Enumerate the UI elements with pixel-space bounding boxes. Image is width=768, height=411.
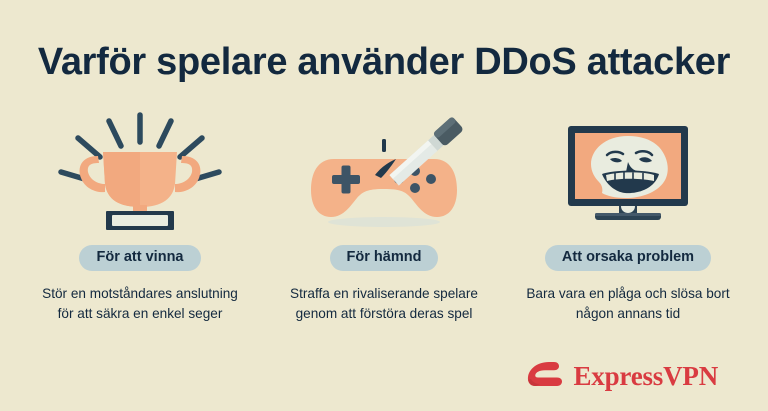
reason-column-revenge: För hämnd Straffa en rivaliserande spela… (268, 112, 500, 323)
stabbed-gamepad-icon (289, 112, 479, 230)
trophy-icon-area (24, 112, 256, 230)
trophy-icon (45, 112, 235, 230)
badge-revenge: För hämnd (330, 245, 439, 271)
caption-trouble: Bara vara en plåga och slösa bort någon … (523, 284, 733, 323)
badge-win: För att vinna (79, 245, 200, 271)
infographic-canvas: Varför spelare använder DDoS attacker (0, 0, 768, 411)
page-title: Varför spelare använder DDoS attacker (0, 39, 768, 85)
caption-win: Stör en motståndares anslutning för att … (35, 284, 245, 323)
reasons-columns: För att vinna Stör en motståndares anslu… (24, 112, 744, 323)
badge-trouble: Att orsaka problem (545, 245, 711, 271)
monitor-icon-area (512, 112, 744, 230)
gamepad-icon-area (268, 112, 500, 230)
expressvpn-wordmark: ExpressVPN (573, 362, 718, 390)
reason-column-trouble: Att orsaka problem Bara vara en plåga oc… (512, 112, 744, 323)
expressvpn-logo[interactable]: ExpressVPN (524, 359, 718, 393)
caption-revenge: Straffa en rivaliserande spelare genom a… (279, 284, 489, 323)
troll-face-monitor-icon (533, 112, 723, 230)
troll-face-glyph (591, 136, 668, 198)
expressvpn-e-mark-icon (524, 359, 564, 393)
reason-column-win: För att vinna Stör en motståndares anslu… (24, 112, 256, 323)
